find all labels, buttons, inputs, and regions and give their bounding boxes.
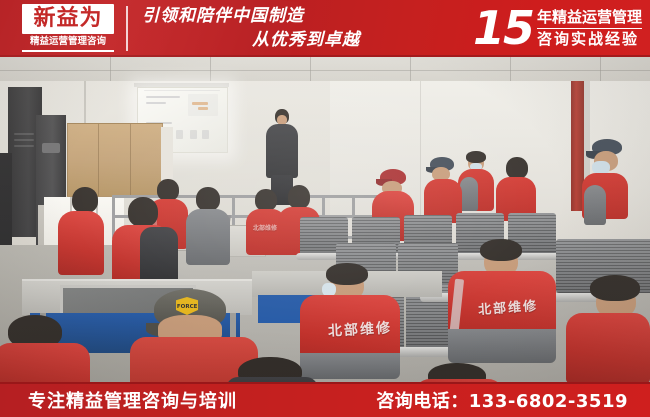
- experience-line-1: 年精益运营管理: [537, 7, 642, 28]
- experience-text: 年精益运营管理 咨询实战经验: [537, 7, 642, 51]
- experience-line-2: 咨询实战经验: [537, 29, 642, 50]
- header-banner: 新益为 精益运营管理咨询 引领和陪伴中国制造 从优秀到卓越 15 年精益运营管理…: [0, 0, 650, 57]
- logo-brand-name: 新益为: [22, 4, 114, 34]
- header-slogan: 引领和陪伴中国制造 从优秀到卓越: [140, 4, 380, 54]
- footer-banner: 专注精益管理咨询与培训 咨询电话：133-6802-3519: [0, 382, 650, 417]
- jacket-label: 北部维修: [328, 317, 393, 340]
- experience-years-number: 15: [473, 5, 533, 51]
- wood-cabinet: [67, 123, 163, 197]
- force-badge-text: FORCE: [177, 303, 198, 309]
- ceiling: [0, 57, 650, 83]
- experience-block: 15 年精益运营管理 咨询实战经验: [473, 0, 642, 57]
- logo-underline: [22, 50, 114, 52]
- footer-left-text: 专注精益管理咨询与培训: [28, 382, 237, 417]
- footer-contact-phone: 咨询电话：133-6802-3519: [376, 382, 628, 417]
- cabinet-panel: [42, 143, 60, 153]
- slogan-line-2: 从优秀到卓越: [140, 28, 380, 52]
- logo-tagline: 精益运营管理咨询: [22, 35, 114, 49]
- slogan-line-1: 引领和陪伴中国制造: [140, 4, 380, 28]
- jacket-label: 北部维修: [253, 223, 277, 232]
- promo-banner-image: 新益为 精益运营管理咨询 引领和陪伴中国制造 从优秀到卓越 15 年精益运营管理…: [0, 0, 650, 417]
- training-photo: 北部维修: [0, 57, 650, 382]
- header-divider: [126, 6, 128, 51]
- company-logo: 新益为 精益运营管理咨询: [22, 4, 114, 53]
